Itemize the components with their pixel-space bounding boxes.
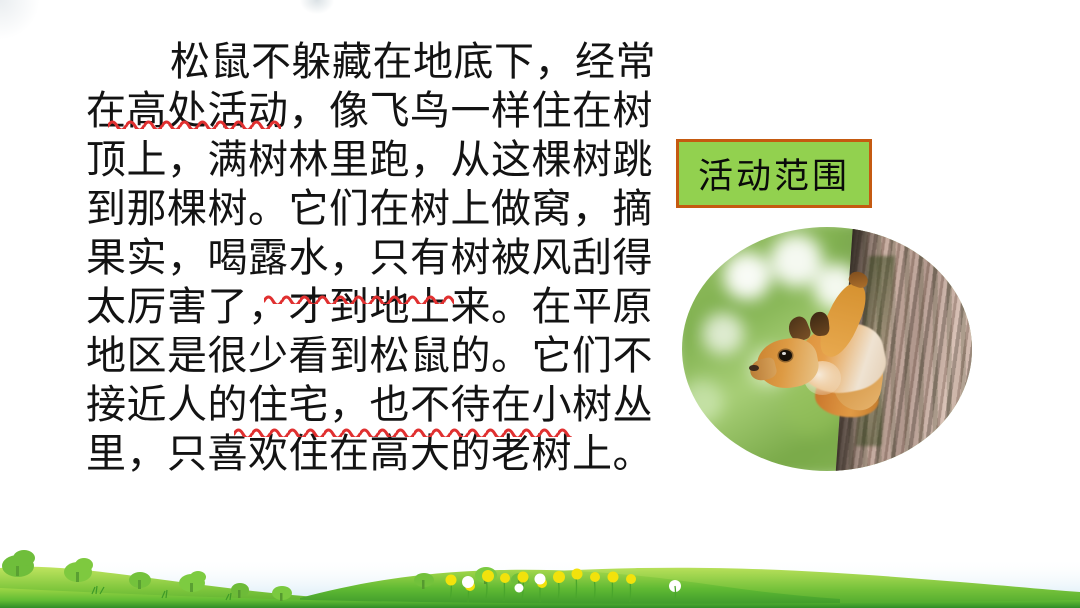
- passage-line: 地区是很少看到松鼠的。它们不: [86, 332, 616, 381]
- passage-line: 顶上，满树林里跑，从这棵树跳: [86, 136, 616, 185]
- passage-line-trailing: 摘: [613, 185, 654, 234]
- passage-line: 松鼠不躲藏在地底下，经常: [86, 38, 616, 87]
- passage-line: 里，只喜欢住在高大的老树上。: [86, 430, 616, 479]
- bottom-meadow-decoration: [0, 508, 1080, 608]
- passage-text-block: 松鼠不躲藏在地底下，经常 在高处活动，像飞鸟一样住在树 顶上，满树林里跑，从这棵…: [86, 38, 616, 479]
- top-artifact-icon: [300, 0, 334, 14]
- squirrel-nose: [749, 365, 758, 371]
- caption-box-label: 活动范围: [698, 148, 850, 199]
- passage-line: 太厉害了，才到地上来。在平原: [86, 283, 616, 332]
- slide-canvas: 松鼠不躲藏在地底下，经常 在高处活动，像飞鸟一样住在树 顶上，满树林里跑，从这棵…: [0, 0, 1080, 608]
- caption-box-activity-range: 活动范围: [676, 139, 872, 208]
- squirrel-photo-oval: [682, 227, 972, 471]
- meadow-illustration-icon: [0, 508, 1080, 608]
- squirrel-photo-inner: [682, 227, 972, 471]
- passage-line: 在高处活动，像飞鸟一样住在树: [86, 87, 616, 136]
- passage-line: 接近人的住宅，也不待在小树丛: [86, 381, 616, 430]
- top-corner-artifact-icon: [0, 0, 40, 40]
- passage-line-main: 到那棵树。它们在树上做窝，: [86, 185, 613, 234]
- passage-line: 到那棵树。它们在树上做窝， 摘: [86, 185, 616, 234]
- passage-line: 果实，喝露水，只有树被风刮得: [86, 234, 616, 283]
